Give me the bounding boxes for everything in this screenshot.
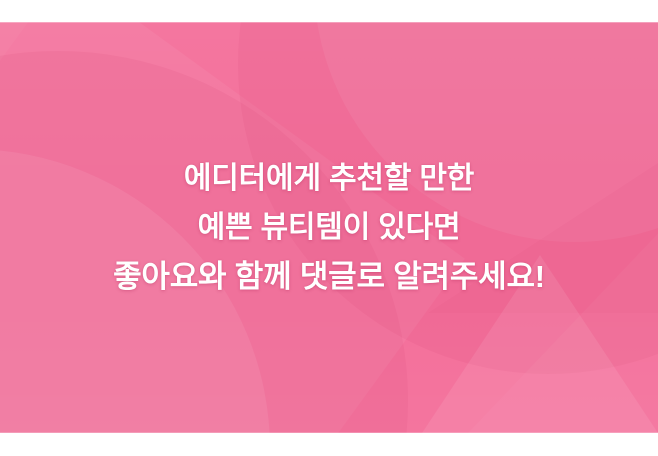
- headline-block: 에디터에게 추천할 만한 예쁜 뷰티템이 있다면 좋아요와 함께 댓글로 알려주…: [0, 22, 658, 433]
- promo-banner-panel: 에디터에게 추천할 만한 예쁜 뷰티템이 있다면 좋아요와 함께 댓글로 알려주…: [0, 22, 658, 433]
- headline-line-3: 좋아요와 함께 댓글로 알려주세요!: [0, 252, 658, 301]
- headline-line-2: 예쁜 뷰티템이 있다면: [0, 203, 658, 252]
- headline-line-1: 에디터에게 추천할 만한: [0, 154, 658, 203]
- banner-canvas: 에디터에게 추천할 만한 예쁜 뷰티템이 있다면 좋아요와 함께 댓글로 알려주…: [0, 0, 658, 456]
